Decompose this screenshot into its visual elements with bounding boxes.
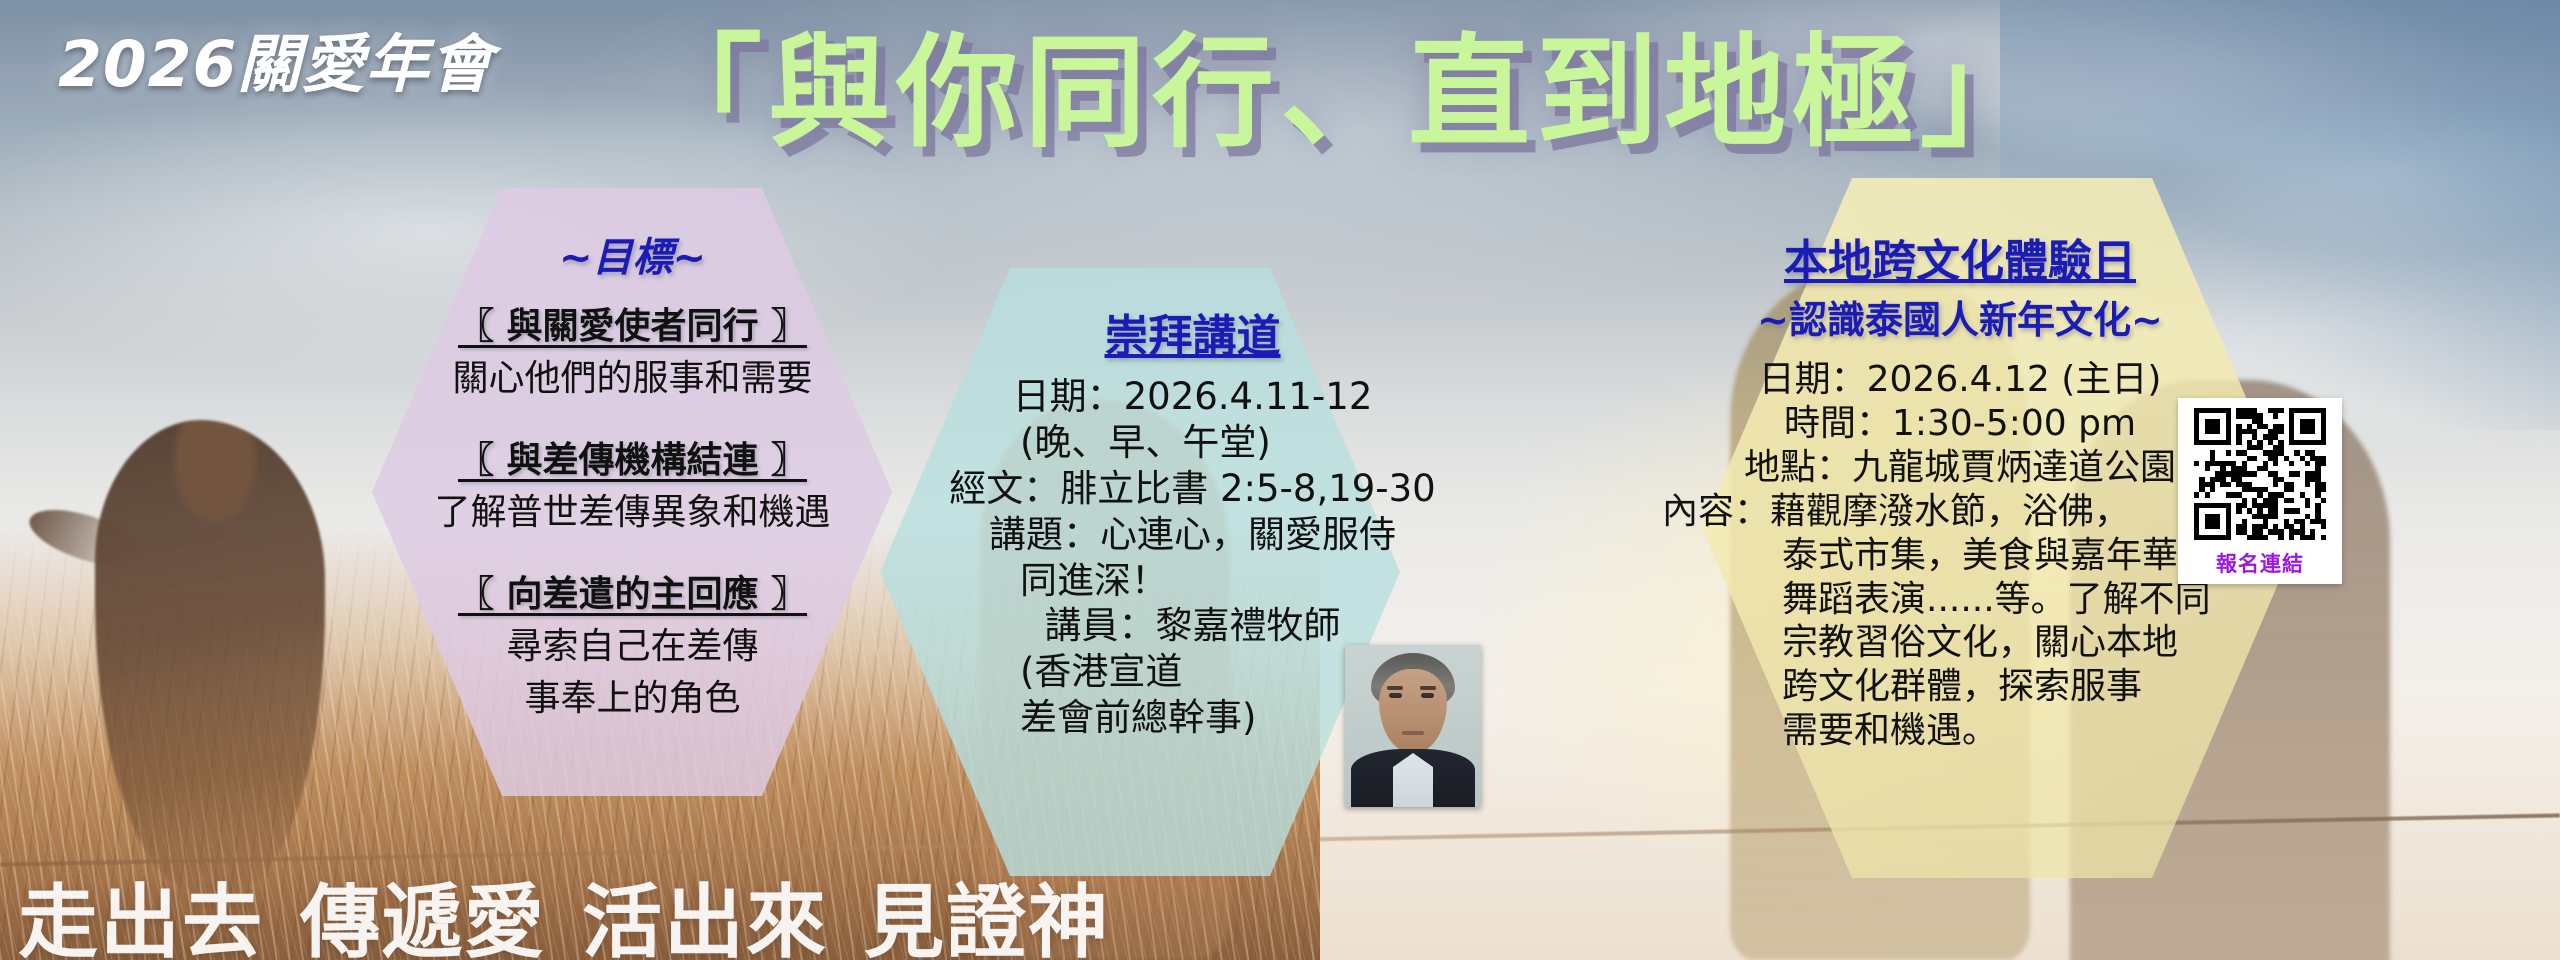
qr-label: 報名連結 <box>2178 548 2342 578</box>
culture-day-heading: 本地跨文化體驗日 <box>1600 225 2320 289</box>
event-year-label: 2026關愛年會 <box>58 14 493 105</box>
goal-3-desc-line1: 尋索自己在差傳 <box>360 617 905 669</box>
page-title: 「與你同行、直到地極」 <box>640 0 2048 171</box>
slogan-part-1: 走出去 <box>18 876 264 960</box>
culture-day-subheading: ~認識泰國人新年文化~ <box>1600 289 2320 344</box>
speaker-portrait <box>1345 645 1481 807</box>
culture-row-content-4: 宗教習俗文化，關心本地 <box>1600 621 2320 665</box>
slogan-part-3: 活出來 <box>582 876 828 960</box>
slogan-part-4: 見證神 <box>864 876 1110 960</box>
worship-row-date: 日期：2026.4.11-12 <box>900 374 1485 420</box>
goal-3-title: 〖 向差遣的主回應 〗 <box>360 565 905 617</box>
culture-row-content-6: 需要和機遇。 <box>1600 709 2320 753</box>
goal-2-desc: 了解普世差傳異象和機遇 <box>360 483 905 535</box>
culture-row-date: 日期：2026.4.12 (主日) <box>1600 358 2320 402</box>
culture-row-content-3: 舞蹈表演......等。了解不同 <box>1600 578 2320 622</box>
worship-row-topic-cont: 同進深！ <box>900 558 1485 604</box>
goal-2-title: 〖 與差傳機構結連 〗 <box>360 431 905 483</box>
worship-row-speaker: 講員：黎嘉禮牧師 <box>900 603 1485 649</box>
qr-code-icon[interactable] <box>2194 408 2326 540</box>
slogan-part-2: 傳遞愛 <box>300 876 546 960</box>
poster-canvas: 2026關愛年會 「與你同行、直到地極」 ~目標~ 〖 與關愛使者同行 〗 關心… <box>0 0 2560 960</box>
worship-row-scripture: 經文：腓立比書 2:5-8,19-30 <box>900 466 1485 512</box>
goals-panel: ~目標~ 〖 與關愛使者同行 〗 關心他們的服事和需要 〖 與差傳機構結連 〗 … <box>360 225 905 721</box>
goal-3-desc-line2: 事奉上的角色 <box>360 669 905 721</box>
worship-heading: 崇拜講道 <box>900 300 1485 364</box>
worship-row-topic: 講題：心連心，關愛服侍 <box>900 512 1485 558</box>
culture-row-content-5: 跨文化群體，探索服事 <box>1600 665 2320 709</box>
worship-row-sessions: (晚、早、午堂) <box>900 420 1485 466</box>
hiker-silhouette-left <box>95 420 325 890</box>
bottom-slogan: 走出去傳遞愛活出來見證神 <box>18 858 1146 960</box>
goal-1-desc: 關心他們的服事和需要 <box>360 349 905 401</box>
registration-qr-card[interactable]: 報名連結 <box>2178 398 2342 584</box>
goal-1-title: 〖 與關愛使者同行 〗 <box>360 297 905 349</box>
goals-heading: ~目標~ <box>360 225 905 283</box>
